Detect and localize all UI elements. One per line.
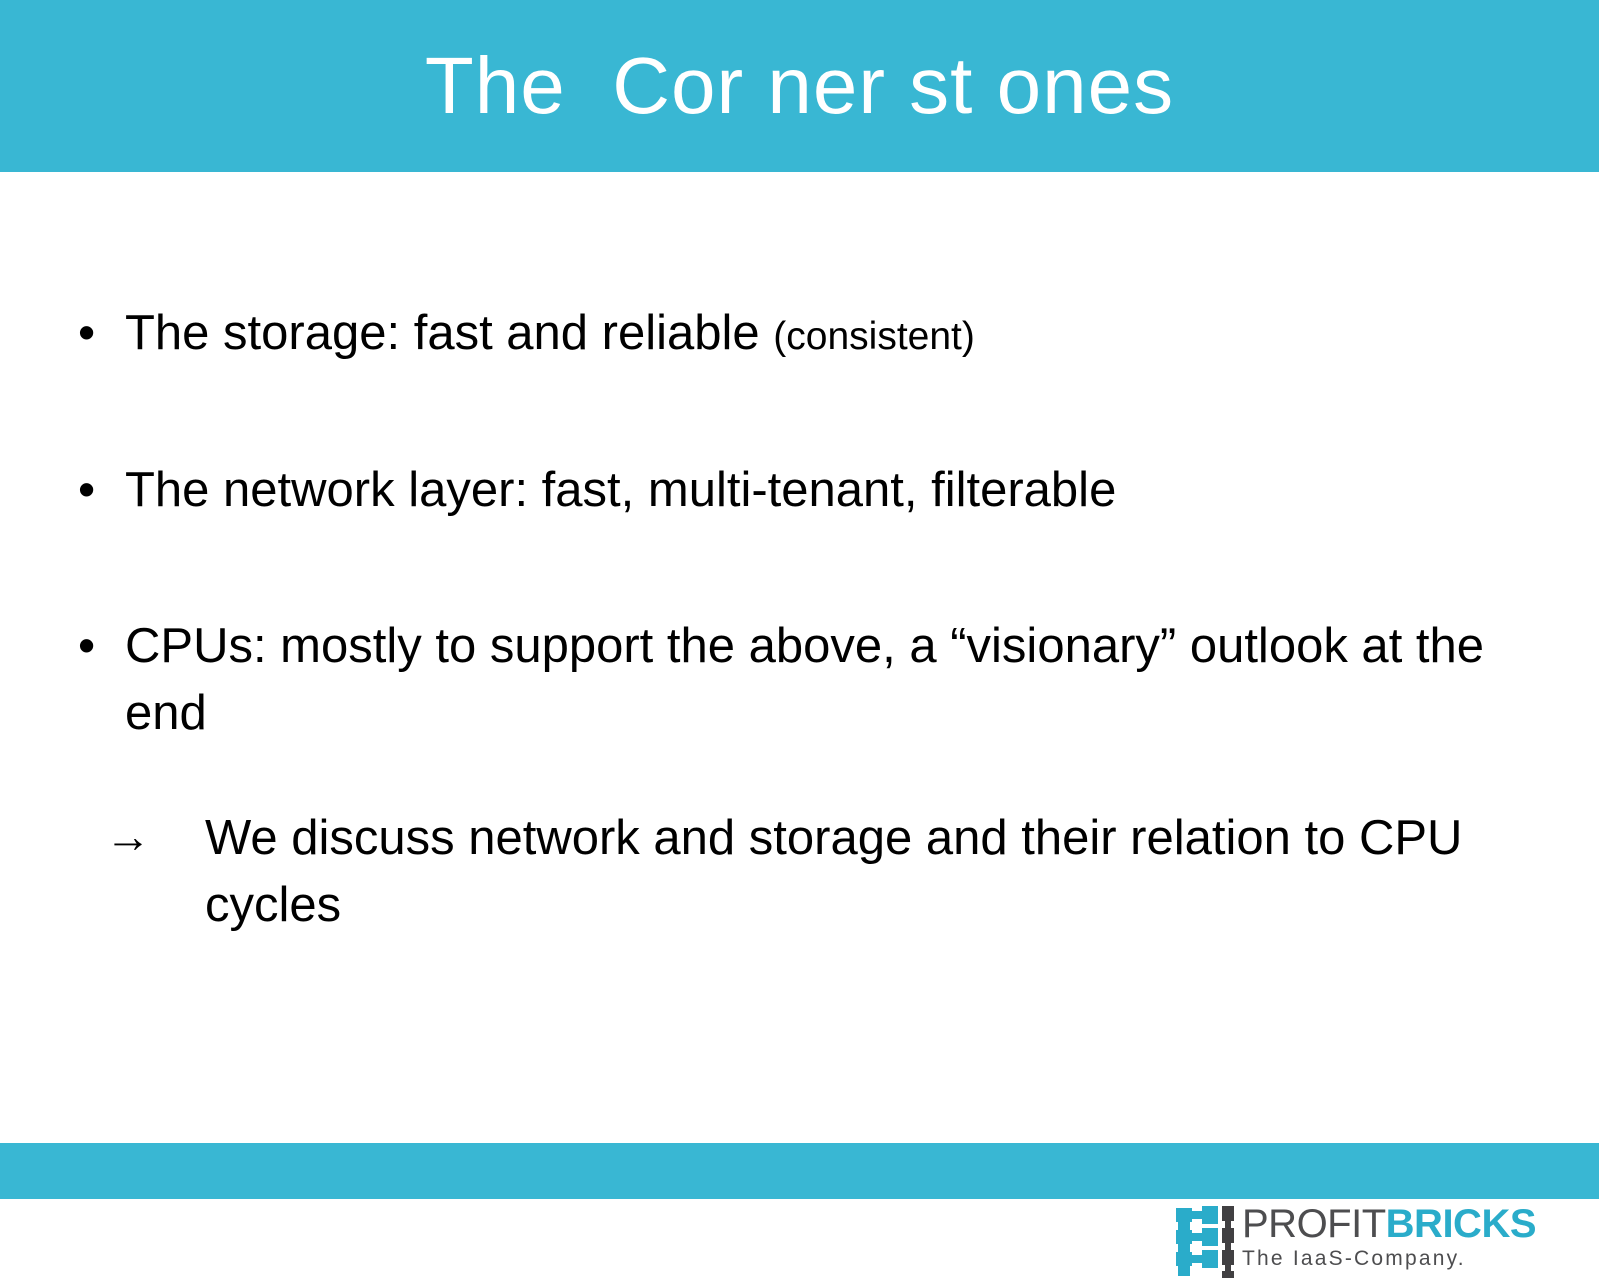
page-title: The Cor ner st ones <box>0 0 1599 172</box>
logo-word-bricks: BRICKS <box>1386 1202 1536 1246</box>
slide: The Cor ner st ones • The storage: fast … <box>0 0 1599 1199</box>
profitbricks-logo: PROFITBRICKS The IaaS-Company. <box>1176 1204 1496 1284</box>
bullet-qualifier: (consistent) <box>773 315 975 358</box>
bullet-marker-icon: • <box>78 457 95 524</box>
conclusion-text: We discuss network and storage and their… <box>205 805 1505 938</box>
slide-body: • The storage: fast and reliable (consis… <box>0 172 1599 1143</box>
list-item: • The network layer: fast, multi-tenant,… <box>70 457 1550 524</box>
conclusion-item: → We discuss network and storage and the… <box>105 805 1505 938</box>
right-arrow-icon: → <box>105 805 151 868</box>
logo-word-profit: PROFIT <box>1242 1202 1386 1246</box>
bullet-list: • The storage: fast and reliable (consis… <box>70 300 1550 747</box>
list-item: • CPUs: mostly to support the above, a “… <box>70 613 1550 746</box>
profitbricks-mark-icon <box>1176 1206 1234 1278</box>
bullet-text: CPUs: mostly to support the above, a “vi… <box>125 619 1484 740</box>
logo-wordmark: PROFITBRICKS The IaaS-Company. <box>1242 1204 1536 1271</box>
bullet-text: The network layer: fast, multi-tenant, f… <box>125 463 1116 517</box>
logo-tagline: The IaaS-Company. <box>1242 1247 1536 1271</box>
list-item: • The storage: fast and reliable (consis… <box>70 300 1550 367</box>
bullet-marker-icon: • <box>78 613 95 680</box>
logo-word: PROFITBRICKS <box>1242 1204 1536 1245</box>
bullet-text: The storage: fast and reliable <box>125 306 773 360</box>
bottom-band <box>0 1143 1599 1199</box>
bullet-marker-icon: • <box>78 300 95 367</box>
